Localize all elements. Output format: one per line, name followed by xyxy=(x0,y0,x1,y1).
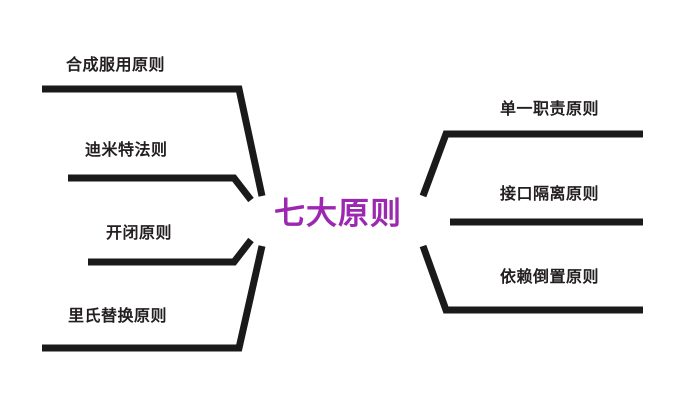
branch-label-right-2[interactable]: 依赖倒置原则 xyxy=(500,270,599,286)
branch-label-left-2[interactable]: 开闭原则 xyxy=(106,226,172,242)
center-topic-label[interactable]: 七大原则 xyxy=(274,198,402,229)
branch-label-right-1[interactable]: 接口隔离原则 xyxy=(500,187,599,203)
branch-line-left-1 xyxy=(68,178,251,200)
mind-map-canvas: 七大原则 合成服用原则 迪米特法则 开闭原则 里氏替换原则 单一职责原则 接口隔… xyxy=(0,0,688,401)
branch-label-left-0[interactable]: 合成服用原则 xyxy=(66,58,165,74)
branch-label-left-1[interactable]: 迪米特法则 xyxy=(85,143,168,159)
branch-label-left-3[interactable]: 里氏替换原则 xyxy=(68,309,167,325)
branch-label-right-0[interactable]: 单一职责原则 xyxy=(500,102,599,118)
branch-line-left-2 xyxy=(88,240,251,262)
